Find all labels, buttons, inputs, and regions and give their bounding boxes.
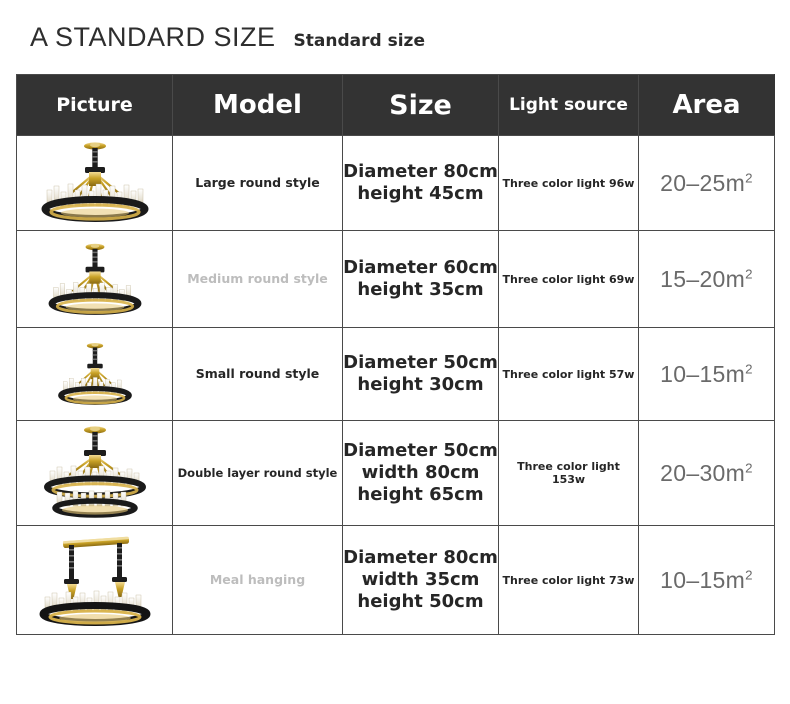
model-cell: Small round style xyxy=(173,328,343,421)
meal-hanging-linear-chandelier-icon xyxy=(17,529,172,631)
chandelier-double-layer-svg xyxy=(25,423,165,523)
chandelier-round-large-svg xyxy=(25,140,165,226)
area-exponent: 2 xyxy=(745,567,753,582)
area-exponent: 2 xyxy=(745,266,753,281)
table-header: Picture Model Size Light source Area xyxy=(17,75,775,136)
small-round-chandelier-icon xyxy=(17,332,172,416)
area-exponent: 2 xyxy=(745,460,753,475)
area-cell: 15–20m2 xyxy=(639,231,775,328)
model-cell: Meal hanging xyxy=(173,526,343,635)
table-row: Large round style Diameter 80cm height 4… xyxy=(17,136,775,231)
model-cell: Medium round style xyxy=(173,231,343,328)
light-source-cell: Three color light 57w xyxy=(499,328,639,421)
page-title: A STANDARD SIZE xyxy=(30,22,276,53)
area-cell: 10–15m2 xyxy=(639,328,775,421)
light-source-cell: Three color light 73w xyxy=(499,526,639,635)
light-source-cell: Three color light 96w xyxy=(499,136,639,231)
table-header-row: Picture Model Size Light source Area xyxy=(17,75,775,136)
model-cell: Double layer round style xyxy=(173,421,343,526)
page-subtitle: Standard size xyxy=(294,31,425,51)
area-range: 10–15m xyxy=(660,567,745,593)
product-image-cell xyxy=(17,231,173,328)
product-image-cell xyxy=(17,421,173,526)
column-header-picture: Picture xyxy=(17,75,173,136)
product-image-cell xyxy=(17,526,173,635)
column-header-model: Model xyxy=(173,75,343,136)
product-image-cell xyxy=(17,328,173,421)
area-range: 15–20m xyxy=(660,266,745,292)
double-layer-round-chandelier-icon xyxy=(17,423,172,523)
medium-round-chandelier-icon xyxy=(17,236,172,322)
page-title-row: A STANDARD SIZE Standard size xyxy=(30,22,425,53)
specification-table: Picture Model Size Light source Area xyxy=(16,74,775,635)
table-row: Double layer round style Diameter 50cm w… xyxy=(17,421,775,526)
table-row: Small round style Diameter 50cm height 3… xyxy=(17,328,775,421)
chandelier-linear-svg xyxy=(25,529,165,631)
product-image-cell xyxy=(17,136,173,231)
area-cell: 20–30m2 xyxy=(639,421,775,526)
size-cell: Diameter 50cm height 30cm xyxy=(343,328,499,421)
model-cell: Large round style xyxy=(173,136,343,231)
area-exponent: 2 xyxy=(745,361,753,376)
light-source-cell: Three color light 153w xyxy=(499,421,639,526)
area-range: 10–15m xyxy=(660,361,745,387)
column-header-area: Area xyxy=(639,75,775,136)
column-header-light-source: Light source xyxy=(499,75,639,136)
area-cell: 10–15m2 xyxy=(639,526,775,635)
size-cell: Diameter 80cm height 45cm xyxy=(343,136,499,231)
area-range: 20–25m xyxy=(660,170,745,196)
size-cell: Diameter 50cm width 80cm height 65cm xyxy=(343,421,499,526)
column-header-size: Size xyxy=(343,75,499,136)
table-row: Meal hanging Diameter 80cm width 35cm he… xyxy=(17,526,775,635)
large-round-chandelier-icon xyxy=(17,140,172,226)
table-body: Large round style Diameter 80cm height 4… xyxy=(17,136,775,635)
chandelier-round-medium-svg xyxy=(29,236,161,322)
size-cell: Diameter 80cm width 35cm height 50cm xyxy=(343,526,499,635)
area-range: 20–30m xyxy=(660,460,745,486)
area-exponent: 2 xyxy=(745,170,753,185)
size-cell: Diameter 60cm height 35cm xyxy=(343,231,499,328)
table-row: Medium round style Diameter 60cm height … xyxy=(17,231,775,328)
light-source-cell: Three color light 69w xyxy=(499,231,639,328)
chandelier-round-small-svg xyxy=(35,332,155,416)
area-cell: 20–25m2 xyxy=(639,136,775,231)
